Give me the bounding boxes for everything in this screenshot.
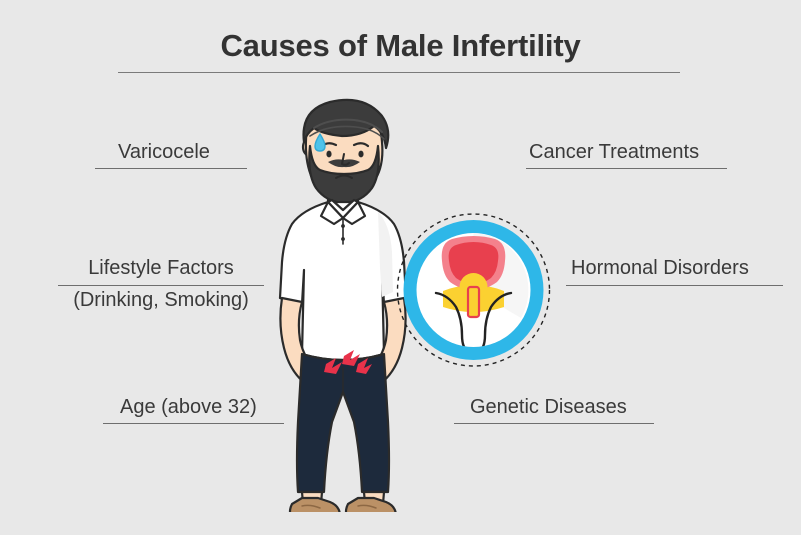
cause-label-genetic-diseases: Genetic Diseases <box>470 395 627 420</box>
cause-label-lifestyle-sub: (Drinking, Smoking) <box>58 288 264 313</box>
cause-underline-varicocele <box>95 168 247 169</box>
cause-label-varicocele-line-1: Varicocele <box>118 140 210 165</box>
cause-label-varicocele: Varicocele <box>118 140 210 165</box>
title-divider <box>118 72 680 73</box>
cause-underline-hormonal-disorders <box>566 285 783 286</box>
cause-label-lifestyle-line-2: (Drinking, Smoking) <box>58 288 264 313</box>
cause-label-lifestyle-line-1: Lifestyle Factors <box>58 256 264 281</box>
cause-label-hormonal-disorders-line-1: Hormonal Disorders <box>571 256 749 281</box>
cause-label-cancer-treatments: Cancer Treatments <box>529 140 699 165</box>
page-title: Causes of Male Infertility <box>0 28 801 64</box>
cause-label-age: Age (above 32) <box>120 395 257 420</box>
cause-underline-genetic-diseases <box>454 423 654 424</box>
cause-label-lifestyle: Lifestyle Factors <box>58 256 264 281</box>
cause-label-age-line-1: Age (above 32) <box>120 395 257 420</box>
cause-label-hormonal-disorders: Hormonal Disorders <box>571 256 749 281</box>
infographic-canvas: Causes of Male Infertility Varicocele Li… <box>0 0 801 535</box>
prostate-bladder-icon <box>396 211 551 369</box>
cause-label-cancer-treatments-line-1: Cancer Treatments <box>529 140 699 165</box>
cause-underline-lifestyle <box>58 285 264 286</box>
cause-underline-age <box>103 423 284 424</box>
cause-underline-cancer-treatments <box>526 168 727 169</box>
cause-label-genetic-diseases-line-1: Genetic Diseases <box>470 395 627 420</box>
urethra-tube <box>468 287 479 317</box>
